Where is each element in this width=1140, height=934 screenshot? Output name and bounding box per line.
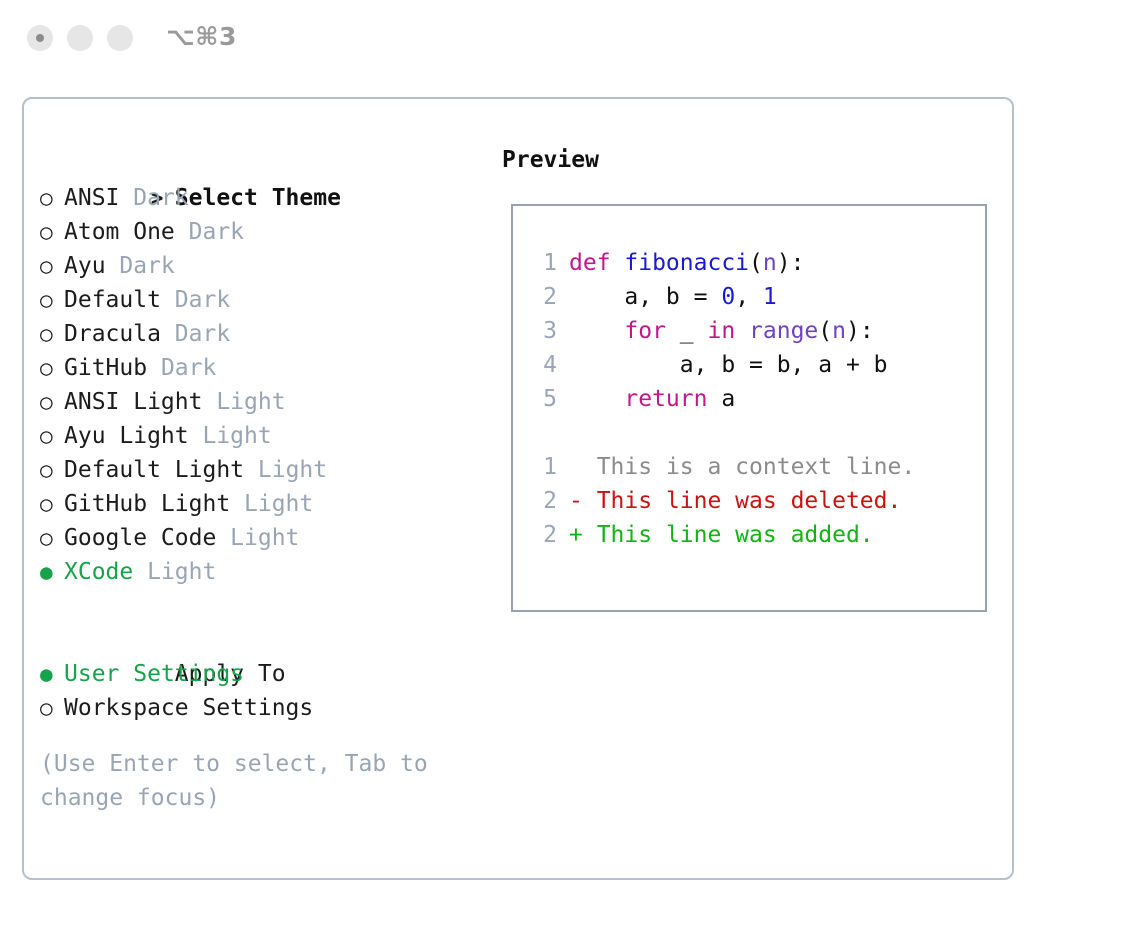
radio-unselected-icon: ○ <box>40 351 64 385</box>
apply-to-option-label: User Settings <box>64 661 244 687</box>
code-line-number: 2 <box>535 280 557 314</box>
radio-unselected-icon: ○ <box>40 487 64 521</box>
code-line-number: 1 <box>535 246 557 280</box>
diff-line-del: 2- This line was deleted. <box>535 484 915 518</box>
radio-unselected-icon: ○ <box>40 419 64 453</box>
code-line-number: 4 <box>535 348 557 382</box>
diff-line-number: 1 <box>535 450 557 484</box>
theme-option-label: Atom One <box>64 219 189 245</box>
theme-option-xcode[interactable]: ●XCode Light <box>40 555 490 589</box>
code-token: n <box>763 250 777 276</box>
theme-option-github-light[interactable]: ○GitHub Light Light <box>40 487 490 521</box>
code-token <box>735 318 749 344</box>
radio-unselected-icon: ○ <box>40 181 64 215</box>
code-token: a, b = b, a + b <box>569 352 888 378</box>
code-line-number: 5 <box>535 382 557 416</box>
theme-option-category: Light <box>258 457 327 483</box>
theme-option-label: Ayu <box>64 253 119 279</box>
radio-unselected-icon: ○ <box>40 249 64 283</box>
code-token: range <box>749 318 818 344</box>
theme-selector-panel: >Select Theme ○ANSI Dark○Atom One Dark○A… <box>22 97 1014 880</box>
code-token <box>569 386 624 412</box>
theme-option-ayu-light[interactable]: ○Ayu Light Light <box>40 419 490 453</box>
code-token: ( <box>749 250 763 276</box>
radio-unselected-icon: ○ <box>40 283 64 317</box>
code-token: fibonacci <box>624 250 749 276</box>
theme-option-category: Light <box>230 525 299 551</box>
diff-sign: - <box>569 488 583 514</box>
theme-option-label: Default Light <box>64 457 258 483</box>
code-line: 3 for _ in range(n): <box>535 314 915 348</box>
preview-code: 1def fibonacci(n):2 a, b = 0, 13 for _ i… <box>535 246 915 552</box>
preview-title: Preview <box>502 147 599 173</box>
diff-text: This line was added. <box>583 522 874 548</box>
diff-sign: + <box>569 522 583 548</box>
theme-option-category: Dark <box>161 355 216 381</box>
theme-option-category: Dark <box>175 287 230 313</box>
diff-line-number: 2 <box>535 484 557 518</box>
theme-option-default[interactable]: ○Default Dark <box>40 283 490 317</box>
code-line-number: 3 <box>535 314 557 348</box>
radio-unselected-icon: ○ <box>40 453 64 487</box>
theme-list-column: >Select Theme ○ANSI Dark○Atom One Dark○A… <box>40 147 490 815</box>
theme-option-category: Light <box>147 559 216 585</box>
theme-option-label: ANSI Light <box>64 389 216 415</box>
code-token: a <box>707 386 735 412</box>
diff-text: This is a context line. <box>583 454 915 480</box>
window-dot-active[interactable] <box>27 25 53 51</box>
code-token <box>569 318 624 344</box>
apply-to-title: Apply To <box>40 623 490 657</box>
radio-unselected-icon: ○ <box>40 215 64 249</box>
theme-option-category: Dark <box>189 219 244 245</box>
theme-option-label: Dracula <box>64 321 175 347</box>
code-line: 4 a, b = b, a + b <box>535 348 915 382</box>
apply-to-option-workspace-settings[interactable]: ○Workspace Settings <box>40 691 490 725</box>
theme-option-category: Light <box>244 491 313 517</box>
code-token: a, b = <box>569 284 721 310</box>
apply-to-option-label: Workspace Settings <box>64 695 313 721</box>
theme-option-category: Light <box>202 423 271 449</box>
theme-option-label: Ayu Light <box>64 423 202 449</box>
radio-unselected-icon: ○ <box>40 521 64 555</box>
theme-option-label: XCode <box>64 559 147 585</box>
code-token: _ <box>666 318 708 344</box>
theme-option-github[interactable]: ○GitHub Dark <box>40 351 490 385</box>
title-bar: ⌥⌘3 <box>0 0 1140 78</box>
theme-option-atom-one[interactable]: ○Atom One Dark <box>40 215 490 249</box>
diff-line-ctx: 1 This is a context line. <box>535 450 915 484</box>
code-token: ( <box>818 318 832 344</box>
theme-option-ansi-light[interactable]: ○ANSI Light Light <box>40 385 490 419</box>
code-line: 5 return a <box>535 382 915 416</box>
code-token: ): <box>846 318 874 344</box>
theme-option-category: Dark <box>175 321 230 347</box>
theme-option-label: Default <box>64 287 175 313</box>
code-token: in <box>707 318 735 344</box>
keyboard-shortcut-label: ⌥⌘3 <box>166 22 237 51</box>
theme-option-ayu[interactable]: ○Ayu Dark <box>40 249 490 283</box>
list-spacer <box>40 589 490 623</box>
code-token: , <box>735 284 763 310</box>
theme-option-label: GitHub <box>64 355 161 381</box>
radio-selected-icon: ● <box>40 555 64 589</box>
theme-option-google-code[interactable]: ○Google Code Light <box>40 521 490 555</box>
theme-option-label: ANSI <box>64 185 133 211</box>
theme-option-category: Dark <box>133 185 188 211</box>
diff-line-number: 2 <box>535 518 557 552</box>
window-dot-2[interactable] <box>67 25 93 51</box>
code-token: n <box>832 318 846 344</box>
radio-selected-icon: ● <box>40 657 64 691</box>
theme-options-list: ○ANSI Dark○Atom One Dark○Ayu Dark○Defaul… <box>40 181 490 589</box>
code-token: return <box>624 386 707 412</box>
radio-unselected-icon: ○ <box>40 317 64 351</box>
theme-list-title-label: Select Theme <box>175 185 341 211</box>
diff-sign <box>569 454 583 480</box>
preview-box: 1def fibonacci(n):2 a, b = 0, 13 for _ i… <box>511 204 987 612</box>
code-diff-separator <box>535 416 915 450</box>
radio-unselected-icon: ○ <box>40 385 64 419</box>
code-line: 1def fibonacci(n): <box>535 246 915 280</box>
diff-text: This line was deleted. <box>583 488 902 514</box>
theme-option-label: GitHub Light <box>64 491 244 517</box>
code-token: def <box>569 250 624 276</box>
theme-list-title: >Select Theme <box>40 147 490 181</box>
code-token: ): <box>777 250 805 276</box>
theme-option-category: Dark <box>119 253 174 279</box>
radio-unselected-icon: ○ <box>40 691 64 725</box>
theme-option-label: Google Code <box>64 525 230 551</box>
diff-line-add: 2+ This line was added. <box>535 518 915 552</box>
code-token: 1 <box>763 284 777 310</box>
code-token: 0 <box>721 284 735 310</box>
keyboard-hint: (Use Enter to select, Tab to change focu… <box>40 747 450 815</box>
theme-option-category: Light <box>216 389 285 415</box>
app-window: ⌥⌘3 >Select Theme ○ANSI Dark○Atom One Da… <box>0 0 1140 934</box>
theme-option-default-light[interactable]: ○Default Light Light <box>40 453 490 487</box>
code-token: for <box>624 318 666 344</box>
window-dot-3[interactable] <box>107 25 133 51</box>
code-line: 2 a, b = 0, 1 <box>535 280 915 314</box>
theme-option-dracula[interactable]: ○Dracula Dark <box>40 317 490 351</box>
